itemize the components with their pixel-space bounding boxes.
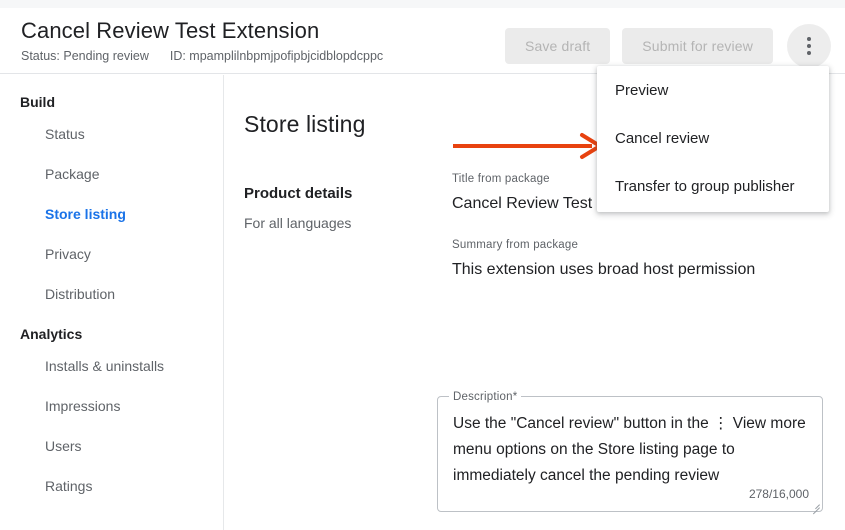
description-field[interactable]: Description* Use the "Cancel review" but…: [437, 396, 823, 512]
page-title: Cancel Review Test Extension: [21, 17, 383, 45]
summary-from-package-field: Summary from package This extension uses…: [452, 237, 837, 282]
overflow-menu-popup: Preview Cancel review Transfer to group …: [597, 66, 829, 212]
section-heading: Product details: [244, 183, 424, 205]
menu-item-transfer-to-group-publisher[interactable]: Transfer to group publisher: [597, 170, 829, 204]
product-details-section-header: Product details For all languages: [244, 183, 424, 234]
menu-item-cancel-review[interactable]: Cancel review: [597, 122, 829, 156]
resize-handle-icon[interactable]: [810, 499, 820, 509]
section-subheading: For all languages: [244, 212, 424, 234]
header-title-block: Cancel Review Test Extension Status: Pen…: [21, 17, 383, 64]
sidebar-item-privacy[interactable]: Privacy: [0, 244, 223, 264]
sidebar-item-users[interactable]: Users: [0, 436, 223, 456]
content-page-title: Store listing: [244, 109, 365, 139]
status-badge: Status: Pending review: [21, 48, 149, 64]
extension-id-text: ID: mpamplilnbpmjpofipbjcidblopdcppc: [170, 48, 383, 64]
sidebar-item-distribution[interactable]: Distribution: [0, 284, 223, 304]
sidebar-item-package[interactable]: Package: [0, 164, 223, 184]
sidebar-item-installs-uninstalls[interactable]: Installs & uninstalls: [0, 356, 223, 376]
window-top-strip: [0, 0, 845, 8]
save-draft-button[interactable]: Save draft: [505, 28, 610, 64]
description-char-counter: 278/16,000: [749, 486, 809, 502]
sidebar-item-status[interactable]: Status: [0, 124, 223, 144]
menu-item-preview[interactable]: Preview: [597, 74, 829, 108]
header-actions: Save draft Submit for review: [505, 24, 831, 68]
app-root: Cancel Review Test Extension Status: Pen…: [0, 0, 845, 530]
sidebar-item-store-listing[interactable]: Store listing: [0, 204, 223, 224]
overflow-menu-button[interactable]: [787, 24, 831, 68]
header-subtitle-row: Status: Pending review ID: mpamplilnbpmj…: [21, 48, 383, 64]
description-label: Description*: [449, 389, 521, 405]
more-vert-icon: [807, 37, 811, 55]
summary-from-package-label: Summary from package: [452, 237, 837, 253]
description-input[interactable]: Use the "Cancel review" button in the ⋮ …: [453, 411, 808, 489]
sidebar-group-analytics: Analytics: [0, 324, 223, 344]
page-header: Cancel Review Test Extension Status: Pen…: [0, 8, 845, 74]
sidebar-item-ratings[interactable]: Ratings: [0, 476, 223, 496]
sidebar-group-build: Build: [0, 92, 223, 112]
submit-for-review-button[interactable]: Submit for review: [622, 28, 773, 64]
sidebar-item-impressions[interactable]: Impressions: [0, 396, 223, 416]
summary-from-package-value: This extension uses broad host permissio…: [452, 258, 837, 282]
sidebar-nav: Build Status Package Store listing Priva…: [0, 75, 224, 530]
